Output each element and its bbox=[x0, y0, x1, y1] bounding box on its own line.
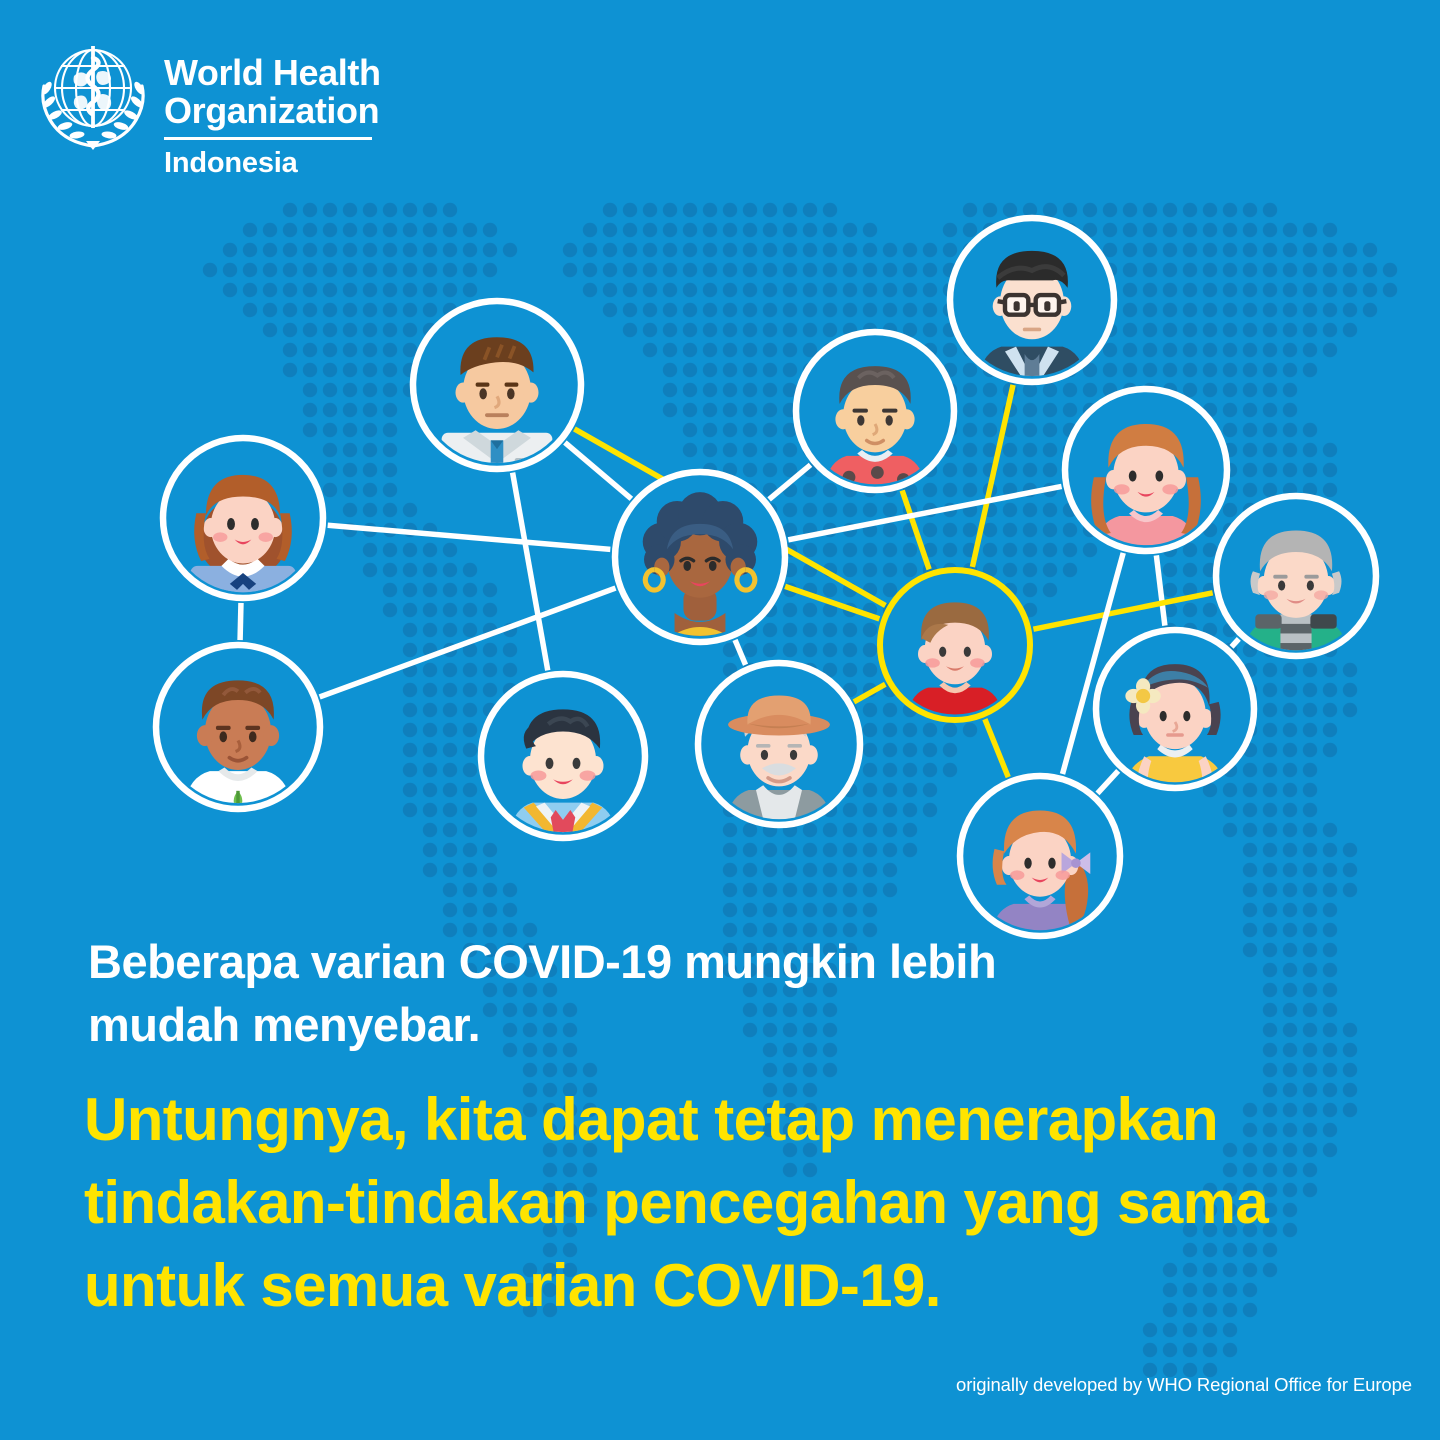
node-girl-ponytail bbox=[960, 776, 1120, 940]
subhead-text: Untungnya, kita dapat tetap menerapkan t… bbox=[84, 1078, 1384, 1327]
node-man-glasses bbox=[950, 218, 1114, 396]
who-logo-line1: World Health bbox=[164, 54, 381, 92]
people-network-diagram bbox=[0, 180, 1440, 940]
network-link bbox=[240, 603, 241, 640]
network-link bbox=[1033, 593, 1212, 629]
credit-text: originally developed by WHO Regional Off… bbox=[956, 1374, 1412, 1396]
network-nodes bbox=[156, 218, 1376, 940]
who-emblem-icon bbox=[38, 36, 148, 156]
node-boy-polka-sweater bbox=[796, 332, 954, 503]
network-link bbox=[1156, 555, 1165, 625]
node-man-white-tshirt bbox=[156, 645, 320, 823]
node-student-tie bbox=[481, 674, 645, 852]
network-link bbox=[1232, 639, 1239, 647]
network-link bbox=[769, 465, 810, 500]
network-link bbox=[902, 490, 929, 569]
node-woman-pink-top bbox=[1065, 389, 1227, 565]
headline-text: Beberapa varian COVID-19 mungkin lebih m… bbox=[88, 930, 1108, 1056]
network-link bbox=[985, 719, 1008, 777]
logo-divider bbox=[164, 137, 372, 140]
network-link bbox=[972, 385, 1013, 567]
network-link bbox=[328, 525, 611, 549]
who-logo-line2: Organization bbox=[164, 92, 381, 130]
network-link bbox=[735, 640, 746, 665]
node-woman-afro bbox=[615, 472, 785, 656]
who-logo: World Health Organization Indonesia bbox=[38, 36, 381, 178]
node-man-white-shirt-tie bbox=[413, 301, 581, 483]
node-elderly-man-hat bbox=[698, 663, 860, 839]
poster-canvas: World Health Organization Indonesia bbox=[0, 0, 1440, 1440]
network-link bbox=[1097, 771, 1118, 794]
node-woman-blue-uniform bbox=[163, 438, 323, 611]
node-girl-flower-pin bbox=[1096, 630, 1254, 801]
network-link bbox=[565, 443, 631, 499]
network-link bbox=[513, 473, 548, 671]
node-boy-red-shirt bbox=[880, 570, 1030, 732]
who-logo-country: Indonesia bbox=[164, 148, 381, 178]
network-link bbox=[788, 486, 1061, 539]
who-logo-text: World Health Organization Indonesia bbox=[164, 36, 381, 178]
network-link bbox=[854, 684, 885, 702]
node-elderly-man-green bbox=[1216, 496, 1376, 669]
